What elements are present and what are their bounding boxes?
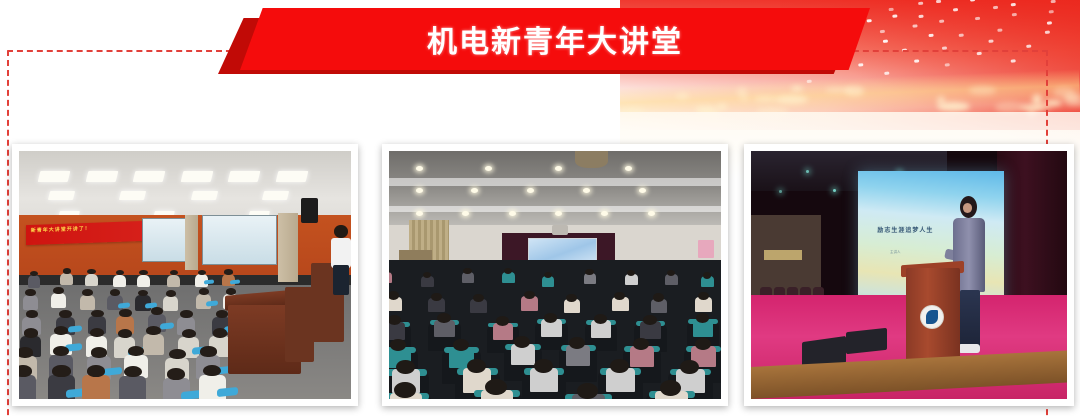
downlight [625,166,632,171]
student-body [19,375,36,399]
title-banner: 机电新青年大讲堂 [200,0,880,92]
ceiling-light-panel [48,191,75,200]
confetti-dot [1012,13,1017,17]
poster-canvas: 机电新青年大讲堂 新青年大讲堂开讲了！ [0,0,1080,419]
bokeh-light [620,108,645,119]
confetti-dot [918,2,923,6]
bokeh-light [1020,104,1045,110]
student-head [128,346,144,356]
bokeh-light [1045,100,1062,106]
confetti-dot [892,14,897,18]
confetti-dot [953,8,958,12]
confetti-dot [918,14,923,18]
attendee-head [653,293,664,301]
student-body [82,375,109,399]
downlight [555,211,562,216]
classroom-chair [204,280,214,285]
confetti-dot [884,71,889,75]
downlight [462,211,469,216]
bokeh-light [717,104,727,109]
confetti-dot [1045,31,1050,35]
bokeh-light [1065,101,1080,106]
student-body [143,334,164,355]
student-head [25,289,35,296]
bokeh-light [775,95,808,104]
student-body [51,293,66,308]
bokeh-light [1034,104,1052,109]
classroom-chair [206,301,218,307]
confetti-dot [997,28,1002,32]
downlight [416,166,423,171]
bokeh-light [1053,87,1075,98]
downlight [416,188,423,193]
student-body [28,275,41,287]
confetti-dot [889,8,894,12]
student-head [146,326,160,335]
student-head [199,288,209,295]
attendee-head [667,270,675,276]
ceiling-beam-1 [389,178,721,185]
attendee-head [431,293,442,301]
student-head [198,270,206,275]
led-screen-title: 励志生涯追梦人生 [877,225,933,234]
projector [552,225,569,235]
bokeh-light [1032,94,1042,105]
confetti-dot [945,63,950,67]
ceiling-light-panel [133,171,166,182]
student-head [200,346,216,356]
student-head [19,347,33,357]
student-head [24,328,38,337]
ceiling-light-panel [275,171,308,182]
confetti-dot [1050,0,1055,3]
confetti-dot [959,33,964,37]
confetti-dot [880,30,885,34]
attendee-head [594,314,608,324]
exit-sign [698,240,715,257]
student-body [137,275,150,287]
confetti-dot [993,5,998,9]
student-body [119,376,146,399]
standing-person-shirt [331,238,351,268]
student-body [85,274,98,286]
student-head [87,269,95,274]
bokeh-light [937,102,970,111]
attendee-head [394,382,415,398]
student-head [90,328,104,337]
student-head [216,310,228,318]
confetti-dot [1047,21,1052,25]
bokeh-light [1064,93,1080,103]
ceiling-vent [575,151,608,168]
attendee-head [643,315,657,325]
confetti-dot [1010,59,1015,63]
ceiling-light-panel [262,191,289,200]
student-head [213,328,227,337]
bokeh-light [695,106,717,113]
confetti-dot [914,59,919,63]
confetti-dot [1011,2,1016,6]
window-right [202,215,277,264]
student-body [113,275,126,287]
student-head [91,347,107,357]
confetti-dot [929,34,934,38]
confetti-dot [988,40,993,44]
podium-emblem [920,305,944,329]
bokeh-light [969,86,996,95]
student-head [182,329,196,338]
attendee-head [585,269,593,275]
standing-person-head [334,225,347,237]
classroom-chair [68,325,82,332]
confetti-dot [970,0,975,1]
student-head [59,310,71,318]
attendee-head [698,292,709,300]
attendee-head [389,291,399,299]
ceiling-light-panel [38,171,71,182]
student-head [110,289,120,296]
student-head [226,288,236,295]
student-body [80,295,95,310]
wooden-chair-a [285,287,315,361]
student-body [60,273,73,285]
window-left [142,218,190,262]
bokeh-light [754,96,776,102]
downlight [555,166,562,171]
truss-light [806,170,809,173]
speaker-shoes [958,344,980,353]
student-head [82,289,92,296]
bokeh-light [756,107,789,116]
photo-card-classroom[interactable]: 新青年大讲堂开讲了！ [12,144,358,406]
classroom-chair [230,280,240,285]
curtain-right [278,213,298,282]
bokeh-light [676,93,689,99]
student-head [169,349,185,359]
student-head [166,290,176,297]
student-head [63,268,71,273]
ceiling-light-panel [85,171,118,182]
bokeh-light [740,96,750,101]
attendee-head [696,313,710,323]
ceiling-light-panel [190,191,217,200]
wall-light-stripe [764,250,802,260]
confetti-dot [939,20,944,24]
attendee-head [680,360,699,374]
photo-gallery: 新青年大讲堂开讲了！ [0,144,1080,412]
downlight [601,211,608,216]
ceiling-light-panel [228,171,261,182]
wall-banner-text: 新青年大讲堂开讲了！ [30,224,90,233]
student-body [163,296,178,311]
photo-card-lecture-hall[interactable] [382,144,728,406]
bokeh-light [698,110,720,114]
attendee-head [437,313,451,323]
student-head [53,346,69,356]
attendee-head [610,359,629,373]
led-screen-subtitle: 主讲人 [890,250,901,255]
photo-stage-speaker-image: 励志生涯追梦人生 主讲人 [751,151,1067,399]
bokeh-light [995,102,1024,112]
confetti-dot [936,0,941,3]
student-head [53,287,63,294]
student-head [119,309,131,317]
student-head [124,366,142,378]
confetti-dot [883,39,888,43]
student-head [180,310,192,318]
student-head [118,329,132,338]
confetti-dot [977,51,982,55]
photo-classroom-image: 新青年大讲堂开讲了！ [19,151,351,399]
photo-lecture-hall-image [389,151,721,399]
attendee-head [703,272,711,278]
confetti-dot [912,25,917,29]
stage-monitor-b [846,327,887,354]
downlight [639,188,646,193]
student-head [224,269,232,274]
attendee-head [485,379,506,395]
bokeh-light [937,96,945,105]
standing-person-trousers [333,265,350,295]
attendee-head [396,360,415,374]
student-head [167,368,185,380]
student-head [19,365,32,377]
ceiling-light-panel [119,191,146,200]
classroom-chair [160,322,174,329]
student-head [91,310,103,318]
page-title: 机电新青年大讲堂 [240,8,870,70]
student-head [52,365,70,377]
classroom-chair [118,302,130,308]
attendee-head [473,294,484,302]
confetti-dot [942,46,947,50]
wall-speaker [301,198,318,223]
speaker-face [963,203,972,213]
student-body [23,295,38,310]
wall-banner: 新青年大讲堂开讲了！ [26,221,146,245]
attendee-head [614,292,625,300]
student-body [167,275,180,287]
attendee-head [496,316,510,326]
confetti-dot [902,48,907,52]
student-crowd [19,260,251,389]
speaker-legs [960,290,981,350]
attendee-head [566,294,577,302]
confetti-dot [1026,44,1031,48]
bokeh-light [697,114,719,119]
confetti-dot [1048,10,1053,14]
bokeh-light [1027,107,1036,118]
student-head [26,310,38,318]
downlight [648,211,655,216]
downlight [416,211,423,216]
downlight [509,211,516,216]
student-head [87,365,105,377]
confetti-dot [975,16,980,20]
photo-card-stage-speaker[interactable]: 励志生涯追梦人生 主讲人 [744,144,1074,406]
attendee-head [534,359,553,373]
ceiling-light-panel [180,171,213,182]
